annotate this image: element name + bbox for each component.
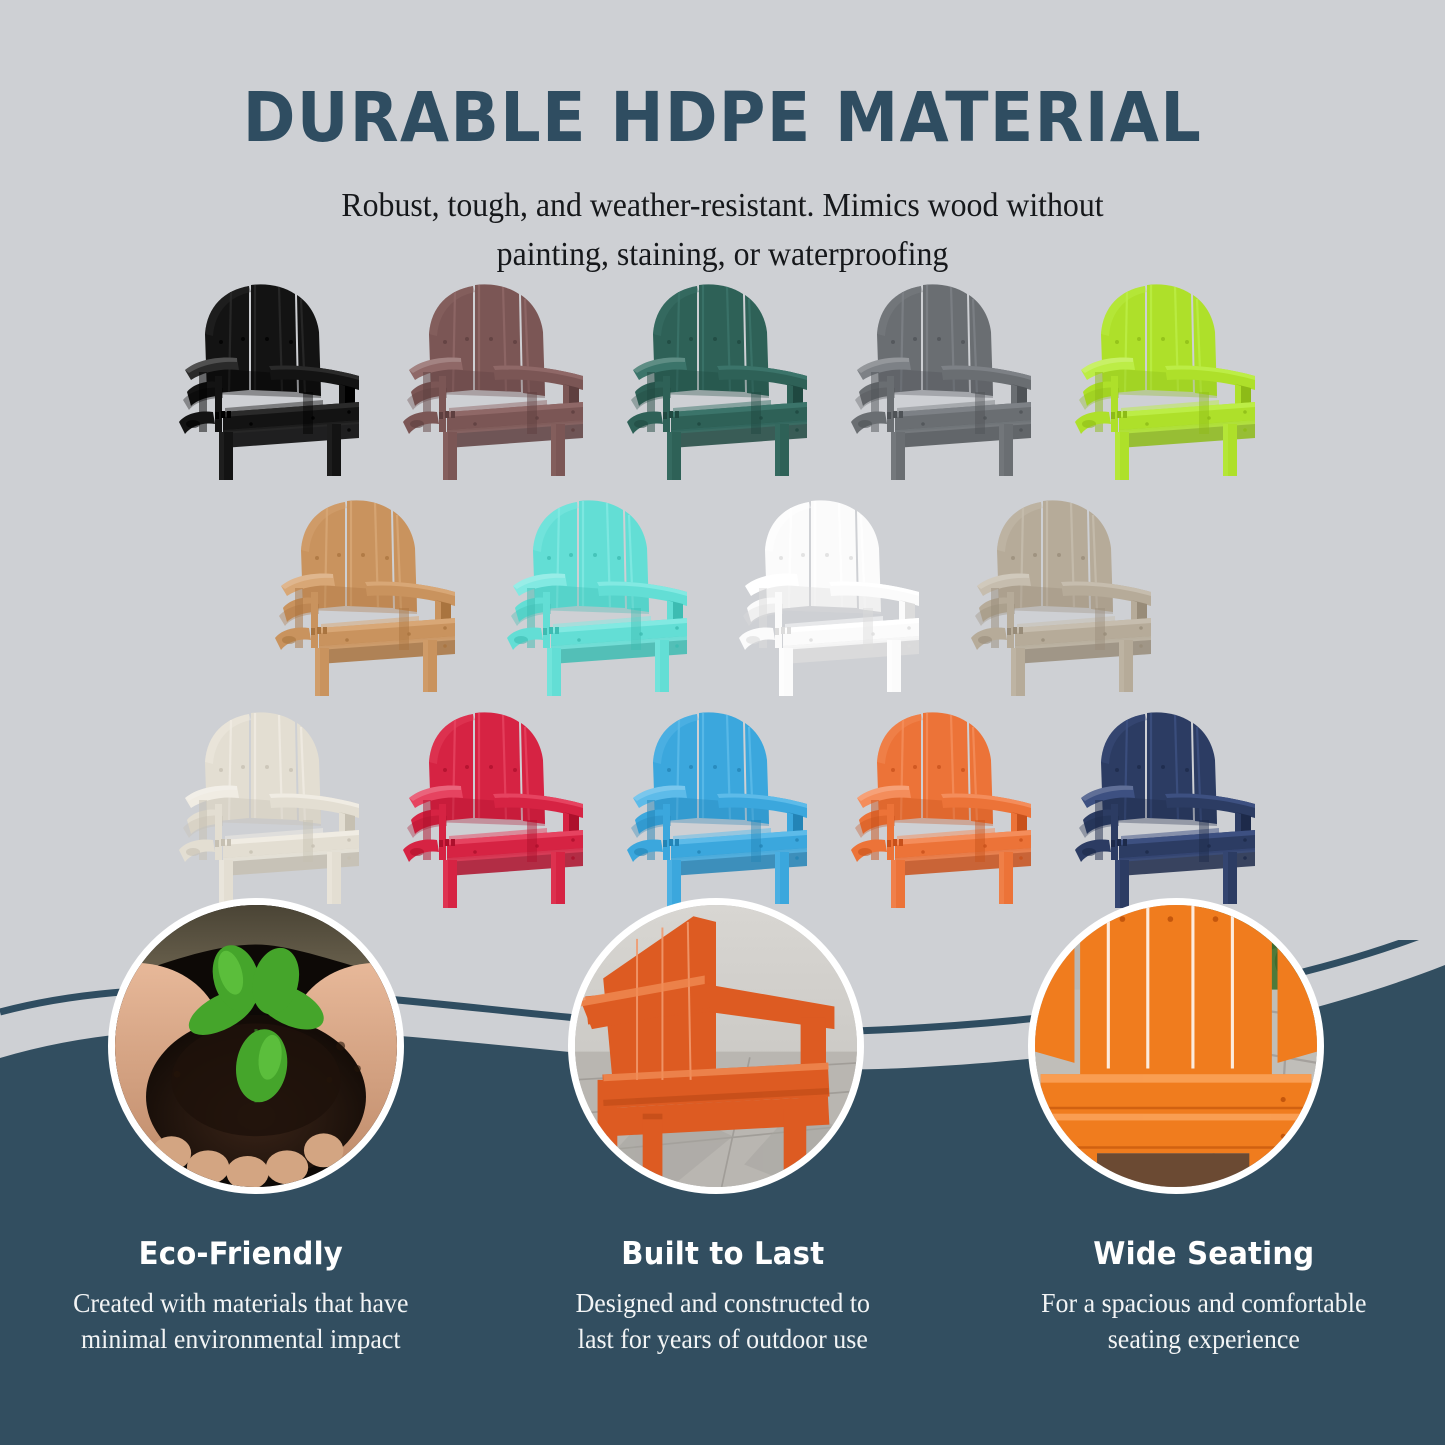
feature-body-line-1: Created with materials that have <box>73 1288 408 1318</box>
feature-title: Eco-Friendly <box>29 1236 452 1272</box>
feature-body-line-1: For a spacious and comfortable <box>1041 1288 1366 1318</box>
feature-photo-wide-seating <box>1028 898 1324 1194</box>
feature-body-line-1: Designed and constructed to <box>575 1288 869 1318</box>
feature-3: Wide SeatingFor a spacious and comfortab… <box>963 1236 1445 1358</box>
feature-captions: Eco-FriendlyCreated with materials that … <box>0 1236 1445 1358</box>
feature-title: Wide Seating <box>993 1236 1416 1272</box>
feature-body-line-2: minimal environmental impact <box>81 1324 401 1354</box>
feature-body-line-2: last for years of outdoor use <box>577 1324 867 1354</box>
feature-2: Built to LastDesigned and constructed to… <box>482 1236 964 1358</box>
feature-body: Created with materials that haveminimal … <box>25 1286 457 1358</box>
feature-photos <box>0 0 1445 1445</box>
feature-photo-built-to-last <box>568 898 864 1194</box>
feature-body: Designed and constructed tolast for year… <box>507 1286 939 1358</box>
feature-1: Eco-FriendlyCreated with materials that … <box>0 1236 482 1358</box>
feature-body-line-2: seating experience <box>1108 1324 1300 1354</box>
feature-photo-eco-friendly <box>108 898 404 1194</box>
feature-body: For a spacious and comfortableseating ex… <box>988 1286 1420 1358</box>
infographic-page: DURABLE HDPE MATERIAL Robust, tough, and… <box>0 0 1445 1445</box>
feature-title: Built to Last <box>511 1236 934 1272</box>
